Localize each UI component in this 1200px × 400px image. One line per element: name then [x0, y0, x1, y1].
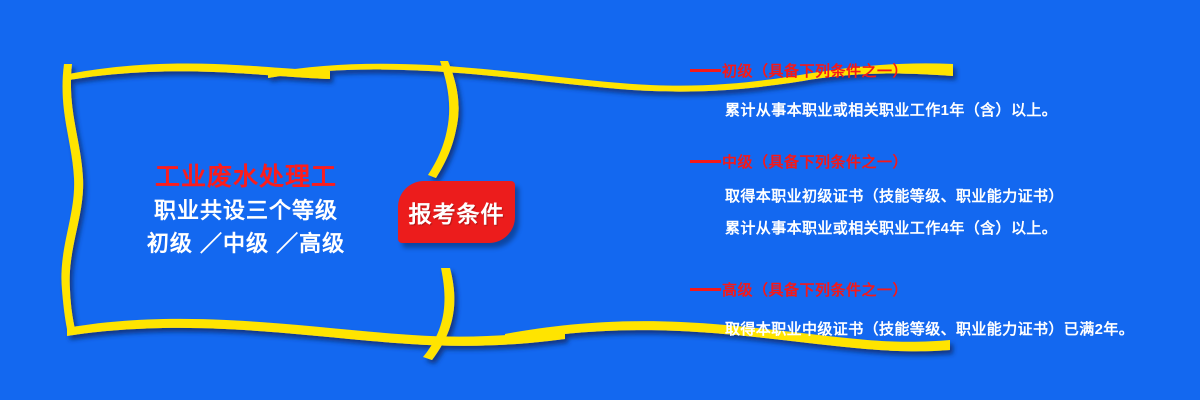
conditions-item: 取得本职业中级证书（技能等级、职业能力证书）已满2年。 — [725, 318, 1170, 339]
dash-prefix-icon — [690, 160, 721, 163]
subtitle-level-names: 初级 ／中级 ／高级 — [96, 227, 396, 260]
conditions-group-junior: 初级（具备下列条件之一） 累计从事本职业或相关职业工作1年（含）以上。 — [690, 60, 1170, 120]
conditions-heading-intermediate: 中级（具备下列条件之一） — [690, 151, 1170, 172]
dash-prefix-icon — [690, 288, 721, 291]
requirements-badge-label: 报考条件 — [409, 195, 505, 229]
requirements-badge[interactable]: 报考条件 — [398, 181, 515, 243]
page-title: 工业废水处理工 — [96, 160, 396, 194]
conditions-group-intermediate: 中级（具备下列条件之一） 取得本职业初级证书（技能等级、职业能力证书） 累计从事… — [690, 151, 1170, 238]
left-title-block: 工业废水处理工 职业共设三个等级 初级 ／中级 ／高级 — [96, 160, 396, 260]
conditions-item: 累计从事本职业或相关职业工作1年（含）以上。 — [725, 99, 1170, 120]
conditions-heading-senior: 高级（具备下列条件之一） — [690, 279, 1170, 300]
conditions-group-senior: 高级（具备下列条件之一） 取得本职业中级证书（技能等级、职业能力证书）已满2年。 — [690, 279, 1170, 339]
dash-prefix-icon — [690, 69, 721, 72]
conditions-heading-junior-text: 初级（具备下列条件之一） — [722, 60, 908, 81]
conditions-heading-senior-text: 高级（具备下列条件之一） — [722, 279, 908, 300]
certification-requirements-banner: 工业废水处理工 职业共设三个等级 初级 ／中级 ／高级 报考条件 初级（具备下列… — [0, 0, 1200, 400]
conditions-heading-intermediate-text: 中级（具备下列条件之一） — [722, 151, 908, 172]
subtitle-levels-count: 职业共设三个等级 — [96, 194, 396, 227]
conditions-list: 初级（具备下列条件之一） 累计从事本职业或相关职业工作1年（含）以上。 中级（具… — [690, 60, 1170, 339]
conditions-item: 取得本职业初级证书（技能等级、职业能力证书） — [725, 185, 1170, 206]
conditions-item: 累计从事本职业或相关职业工作4年（含）以上。 — [725, 217, 1170, 238]
conditions-heading-junior: 初级（具备下列条件之一） — [690, 60, 1170, 81]
